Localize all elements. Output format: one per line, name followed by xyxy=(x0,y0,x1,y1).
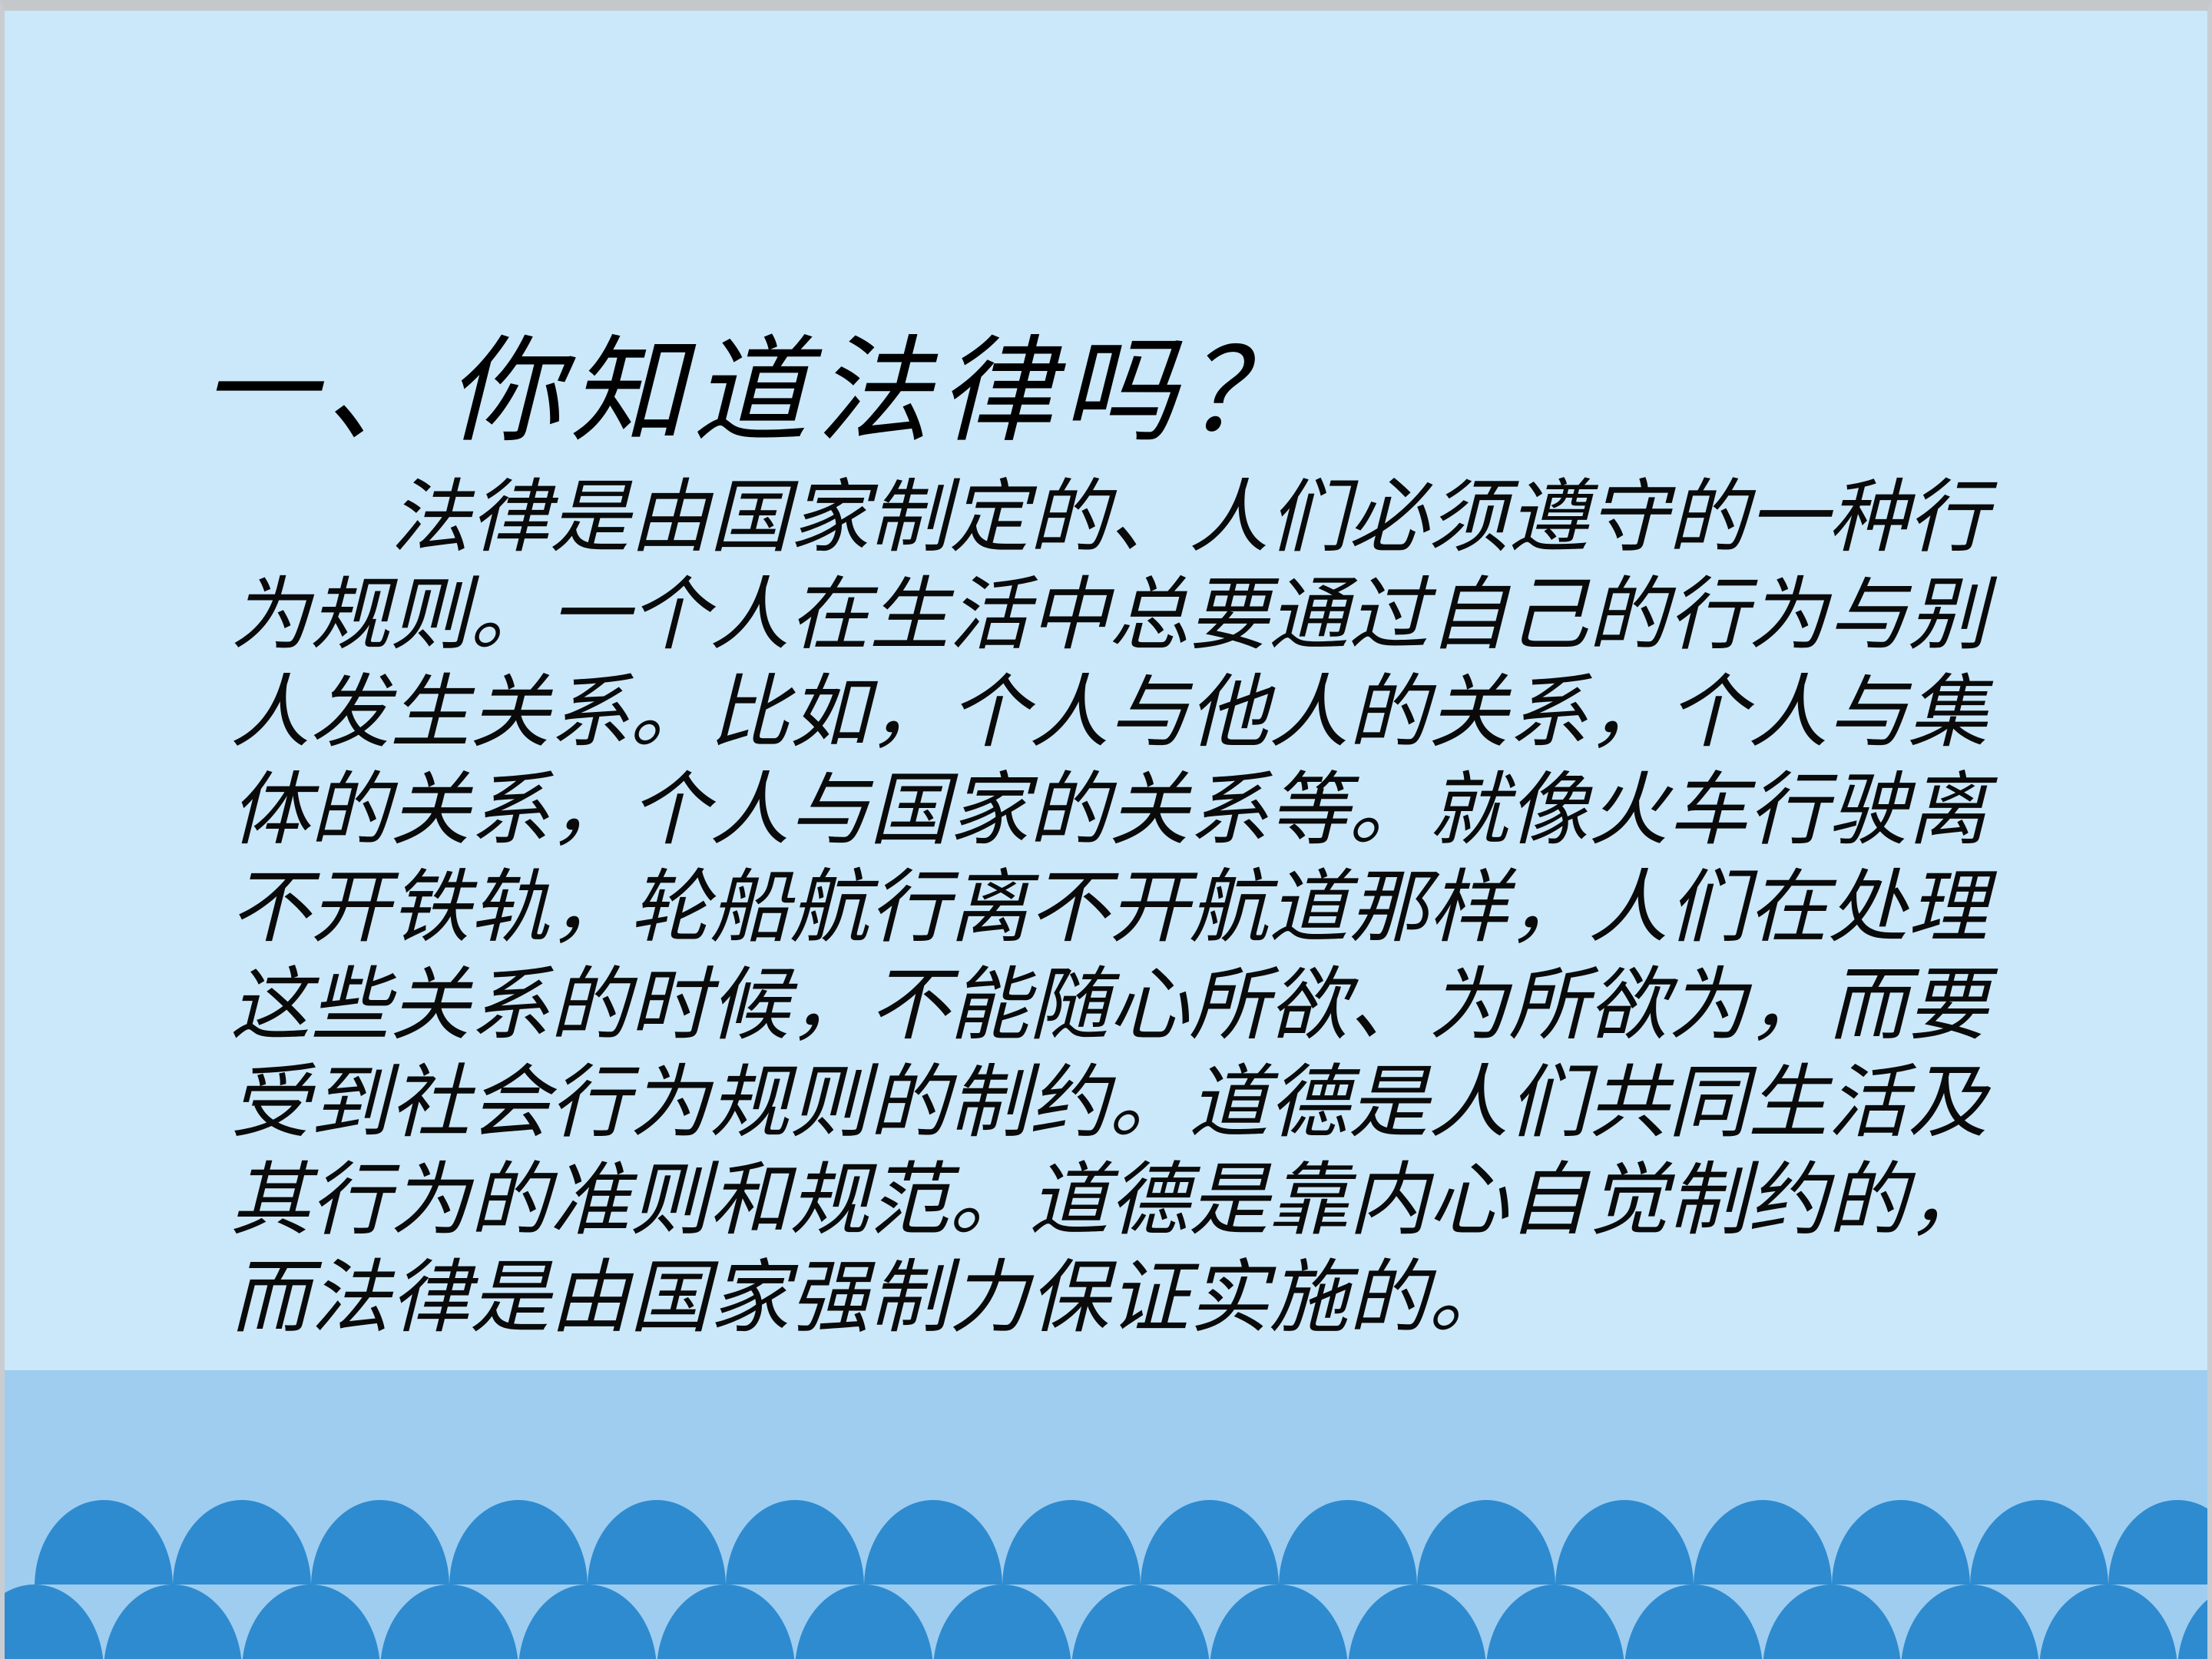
decorative-circle xyxy=(2177,1584,2212,1659)
decorative-circle xyxy=(1002,1500,1141,1584)
slide-body-text: 法律是由国家制定的、人们必须遵守的一种行为规则。一个人在生活中总要通过自己的行为… xyxy=(230,469,1920,1346)
decorative-circle xyxy=(657,1584,795,1659)
decorative-circle xyxy=(1210,1584,1348,1659)
decorative-circle xyxy=(1417,1500,1555,1584)
decorative-circle xyxy=(173,1500,311,1584)
decorative-circle xyxy=(1071,1584,1210,1659)
decorative-circle xyxy=(311,1500,449,1584)
body-text-line: 受到社会行为规则的制约。道德是人们共同生活及 xyxy=(230,1054,1920,1151)
decorative-circle xyxy=(1279,1500,1417,1584)
body-text-line: 为规则。一个人在生活中总要通过自己的行为与别 xyxy=(230,566,1920,664)
decorative-circle xyxy=(104,1584,242,1659)
decorative-circle xyxy=(1970,1500,2108,1584)
decorative-circle xyxy=(2108,1500,2212,1584)
decorative-circle xyxy=(242,1584,380,1659)
decorative-circle xyxy=(726,1500,864,1584)
decorative-circle xyxy=(2039,1584,2177,1659)
body-text-line: 而法律是由国家强制力保证实施的。 xyxy=(230,1249,1920,1346)
decorative-circle xyxy=(449,1500,588,1584)
body-text-line: 其行为的准则和规范。道德是靠内心自觉制约的， xyxy=(230,1151,1920,1249)
decorative-circle xyxy=(1348,1584,1486,1659)
decorative-circle xyxy=(380,1584,518,1659)
presentation-slide: 一、你知道法律吗？ 法律是由国家制定的、人们必须遵守的一种行为规则。一个人在生活… xyxy=(0,0,2212,1659)
decorative-circle xyxy=(1486,1584,1624,1659)
decorative-circle xyxy=(933,1584,1071,1659)
decorative-circle xyxy=(1555,1500,1694,1584)
decorative-circle xyxy=(0,1584,104,1659)
decorative-circle-row-top xyxy=(0,1500,2212,1584)
decorative-circle xyxy=(1832,1500,1970,1584)
decorative-circle xyxy=(1694,1500,1832,1584)
decorative-circle xyxy=(35,1500,173,1584)
decorative-circle xyxy=(588,1500,726,1584)
body-text-line: 法律是由国家制定的、人们必须遵守的一种行 xyxy=(230,469,1920,566)
decorative-circle xyxy=(1141,1500,1279,1584)
body-text-line: 人发生关系。比如，个人与他人的关系，个人与集 xyxy=(230,664,1920,761)
decorative-circle xyxy=(795,1584,933,1659)
decorative-circle-row-bottom xyxy=(0,1584,2212,1659)
decorative-circle xyxy=(864,1500,1002,1584)
body-text-line: 不开铁轨，轮船航行离不开航道那样，人们在处理 xyxy=(230,859,1920,956)
body-text-line: 体的关系，个人与国家的关系等。就像火车行驶离 xyxy=(230,761,1920,859)
slide-title: 一、你知道法律吗？ xyxy=(201,320,1891,465)
decorative-circle xyxy=(1901,1584,2039,1659)
decorative-circle xyxy=(518,1584,657,1659)
decorative-circle xyxy=(1624,1584,1763,1659)
body-text-line: 这些关系的时候，不能随心所欲、为所欲为，而要 xyxy=(230,956,1920,1054)
decorative-circle xyxy=(1763,1584,1901,1659)
